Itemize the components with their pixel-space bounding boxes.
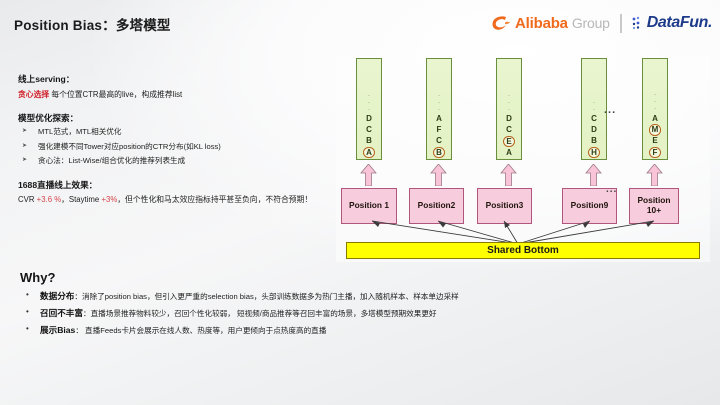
tower-slot: A (433, 114, 446, 125)
page-title: Position Bias：多塔模型 (14, 14, 171, 34)
effect-cvr-value: +3.6 % (37, 195, 62, 204)
tower-slot: D (588, 125, 601, 136)
datafun-dots-icon (632, 15, 645, 31)
tower-slot: D (503, 114, 516, 125)
logo-divider (620, 14, 622, 33)
serving-block: 线上serving： 贪心选择 每个位置CTR最高的live，构成推荐list (18, 74, 328, 100)
tower-slot: A (503, 147, 516, 158)
up-arrow-icon-4 (585, 164, 602, 186)
effect-mid: ，Staytime (61, 195, 101, 204)
tower-dot: · (654, 99, 656, 106)
serving-highlight: 贪心选择 (18, 90, 49, 99)
shared-bottom-box[interactable]: Shared Bottom (346, 242, 700, 259)
tower-slot: B (363, 136, 376, 147)
tower-dot: · (593, 100, 595, 107)
logo-bar: Alibaba Group DataFun. (491, 10, 712, 36)
effect-staytime-value: +3% (101, 195, 117, 204)
datafun-logo: DataFun. (632, 14, 712, 32)
tower-slot-selected: F (649, 147, 661, 159)
tower-5: ···AMEF (642, 58, 668, 160)
tower-group: ···DCBA ···AFCB ···DCEA ··CDBH ···AMEF (336, 58, 710, 166)
tower-slot: A (649, 113, 662, 124)
tower-slot: C (433, 136, 446, 147)
alibaba-logo: Alibaba Group (491, 14, 610, 32)
tower-slot: C (363, 125, 376, 136)
effect-pre: CVR (18, 195, 37, 204)
list-item: 强化建模不同Tower对应position的CTR分布(如KL loss) (18, 142, 328, 153)
tower-dot: · (368, 93, 370, 100)
why-title: Why? (20, 270, 708, 285)
tower-dot: · (593, 107, 595, 114)
tower-slot-selected: B (433, 147, 445, 159)
datafun-wordmark: DataFun. (647, 14, 712, 32)
tower-ellipsis: ... (604, 104, 616, 116)
list-item: 召回不丰富：直播场景推荐物料较少，召回个性化较弱， 短视频/商品推荐等召回丰富的… (18, 307, 708, 320)
tower-dot: · (508, 100, 510, 107)
serving-description: 贪心选择 每个位置CTR最高的live，构成推荐list (18, 89, 328, 100)
tower-3: ···DCEA (496, 58, 522, 160)
tower-slot: B (588, 136, 601, 147)
tower-slot: C (503, 125, 516, 136)
tower-1: ···DCBA (356, 58, 382, 160)
effect-post: ，但个性化和马太效应指标持平甚至负向，不符合预期！ (117, 195, 312, 204)
tower-dot: · (438, 100, 440, 107)
why-section: Why? 数据分布：消除了position bias，但引入更严重的select… (18, 270, 708, 341)
list-item: 展示Bias： 直播Feeds卡片会展示在线人数、热度等，用户更倾向于点热度高的… (18, 324, 708, 337)
explore-heading: 模型优化探索： (18, 113, 328, 125)
tower-slot: F (433, 125, 446, 136)
explore-list: MTL范式，MTL相关优化 强化建模不同Tower对应position的CTR分… (18, 127, 328, 166)
tower-slot: D (363, 114, 376, 125)
why-key: 召回不丰富 (40, 308, 83, 318)
tower-slot: C (588, 114, 601, 125)
why-text: ：消除了position bias，但引入更严重的selection bias，… (74, 292, 458, 301)
alibaba-group-label: Group (572, 15, 610, 31)
tower-dot: · (438, 93, 440, 100)
alibaba-wordmark: Alibaba (515, 15, 568, 32)
tower-dot: · (508, 107, 510, 114)
tower-slot-selected: H (588, 147, 600, 159)
explore-block: 模型优化探索： MTL范式，MTL相关优化 强化建模不同Tower对应posit… (18, 113, 328, 167)
tower-dot: · (654, 106, 656, 113)
tower-dot: · (438, 107, 440, 114)
list-item: MTL范式，MTL相关优化 (18, 127, 328, 138)
list-item: 贪心法：List-Wise/组合优化的推荐列表生成 (18, 156, 328, 167)
position-ellipsis: ... (606, 184, 617, 195)
effect-block: 1688直播线上效果： CVR +3.6 %，Staytime +3%，但个性化… (18, 180, 328, 206)
up-arrow-icon-2 (430, 164, 447, 186)
up-arrow-icon-5 (646, 164, 663, 186)
why-key: 数据分布 (40, 291, 74, 301)
up-arrow-icon-1 (360, 164, 377, 186)
up-arrow-icon-3 (500, 164, 517, 186)
why-key: 展示Bias (40, 325, 75, 335)
tower-dot: · (654, 92, 656, 99)
serving-rest: 每个位置CTR最高的live，构成推荐list (49, 90, 182, 99)
tower-slot-selected: A (363, 147, 375, 159)
tower-slot-selected: M (649, 124, 661, 136)
multi-tower-diagram: ···DCBA ···AFCB ···DCEA ··CDBH ···AMEF .… (336, 56, 710, 262)
effect-heading: 1688直播线上效果： (18, 180, 328, 192)
serving-heading: 线上serving： (18, 74, 328, 86)
list-item: 数据分布：消除了position bias，但引入更严重的selection b… (18, 290, 708, 303)
effect-description: CVR +3.6 %，Staytime +3%，但个性化和马太效应指标持平甚至负… (18, 194, 328, 206)
why-list: 数据分布：消除了position bias，但引入更严重的selection b… (18, 290, 708, 337)
why-text: ： 直播Feeds卡片会展示在线人数、热度等，用户更倾向于点热度高的直播 (75, 326, 326, 335)
tower-dot: · (368, 100, 370, 107)
tower-dot: · (508, 93, 510, 100)
tower-2: ···AFCB (426, 58, 452, 160)
why-text: ：直播场景推荐物料较少，召回个性化较弱， 短视频/商品推荐等召回丰富的场景，多塔… (83, 309, 437, 318)
slide-root: Position Bias：多塔模型 Alibaba Group DataFun… (0, 0, 720, 405)
tower-slot: E (649, 136, 662, 147)
left-content-column: 线上serving： 贪心选择 每个位置CTR最高的live，构成推荐list … (18, 74, 328, 206)
tower-dot: · (368, 107, 370, 114)
tower-slot-selected: E (503, 136, 515, 148)
alibaba-mark-icon (491, 14, 511, 32)
